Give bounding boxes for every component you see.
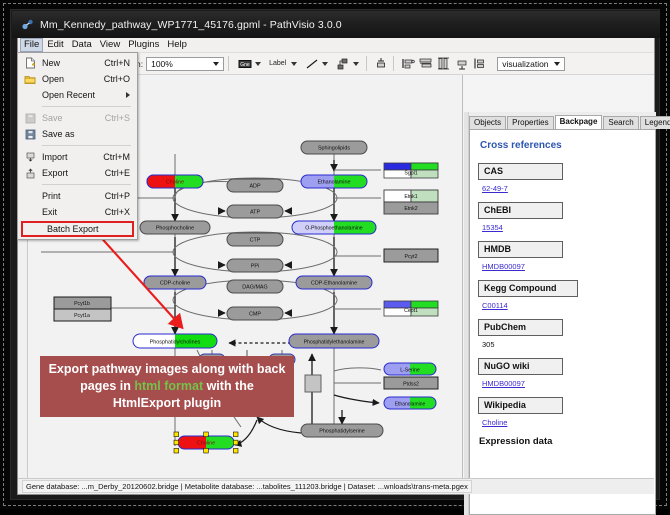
svg-text:Ptdss2: Ptdss2 <box>403 382 419 388</box>
menu-item-save-accel: Ctrl+S <box>105 113 130 123</box>
chevron-down-icon[interactable] <box>322 62 328 66</box>
menu-plugins[interactable]: Plugins <box>124 38 163 52</box>
menu-item-exit-label: Exit <box>42 207 105 217</box>
menu-item-new-label: New <box>42 58 104 68</box>
visualization-value: visualization <box>502 59 548 69</box>
pathway-gene-ptdss2: Ptdss2 <box>384 377 438 389</box>
xref-value-chebi: 15354 <box>482 223 647 232</box>
save-disk-icon <box>18 113 42 124</box>
toolbar-separator <box>228 56 229 71</box>
callout-line-3: HtmlExport plugin <box>113 396 221 410</box>
svg-text:Cept1: Cept1 <box>404 308 418 314</box>
toolbar-separator <box>393 56 394 71</box>
interaction-tool-icon[interactable] <box>334 55 351 72</box>
menu-item-export-accel: Ctrl+E <box>105 168 130 178</box>
callout-line-2b: with the <box>203 379 254 393</box>
pathvisio-application-window: Mm_Kennedy_pathway_WP1771_45176.gpml - P… <box>10 9 660 500</box>
xref-db-chebi: ChEBI <box>478 202 563 219</box>
gene-product-tool-icon[interactable]: Gne <box>236 55 253 72</box>
pathway-gene-pcyt1a: Pcyt1a <box>54 309 111 321</box>
toolbar-separator <box>366 56 367 71</box>
pathway-node-ethanolamine-top: Ethanolamine <box>301 175 367 188</box>
svg-text:Ethanolamine: Ethanolamine <box>395 401 426 407</box>
xref-link-nugo-wiki[interactable]: HMDB00097 <box>482 379 525 388</box>
svg-text:Gne: Gne <box>240 62 250 68</box>
svg-text:Choline: Choline <box>197 441 215 447</box>
pathway-gene-cept1: Cept1 <box>384 301 438 316</box>
xref-db-nugo-wiki: NuGO wiki <box>478 358 563 375</box>
chevron-down-icon[interactable] <box>291 62 297 66</box>
pathway-node-cdp-choline: CDP-choline <box>144 276 206 289</box>
zoom-combo[interactable]: 100% <box>146 57 224 71</box>
tab-backpage[interactable]: Backpage <box>555 115 603 129</box>
svg-text:Sphingolipids: Sphingolipids <box>318 146 350 152</box>
xref-db-pubchem: PubChem <box>478 319 563 336</box>
xref-db-hmdb: HMDB <box>478 241 563 258</box>
pathway-node-ethanolamine-right: Ethanolamine <box>384 397 436 409</box>
menu-item-export-label: Export <box>42 168 105 178</box>
pathway-node-o-phosphoethanolamine: O-Phosphoethanolamine <box>292 221 376 234</box>
menu-item-open-recent[interactable]: Open Recent <box>18 87 137 103</box>
pathway-node-phosphatidylcholines: Phosphatidylcholines <box>133 334 217 348</box>
window-title-bar: Mm_Kennedy_pathway_WP1771_45176.gpml - P… <box>12 11 660 38</box>
align-vertical-tool-icon[interactable] <box>453 55 470 72</box>
label-tool-label[interactable]: Label <box>266 58 289 69</box>
pathway-gene-pcyt1b: Pcyt1b <box>54 297 111 309</box>
menu-item-open-recent-label: Open Recent <box>42 90 126 100</box>
tab-search[interactable]: Search <box>603 116 638 129</box>
svg-text:CDP-Ethanolamine: CDP-Ethanolamine <box>311 281 357 287</box>
menu-separator <box>42 106 131 107</box>
svg-text:Phosphocholine: Phosphocholine <box>156 226 194 232</box>
svg-text:PPi: PPi <box>251 264 259 270</box>
callout-line-1: Export pathway images along with back <box>49 362 286 376</box>
align-horizontal-tool-icon[interactable] <box>417 55 434 72</box>
menu-help[interactable]: Help <box>163 38 191 52</box>
xref-link-hmdb[interactable]: HMDB00097 <box>482 262 525 271</box>
svg-text:Phosphatidylethanolamine: Phosphatidylethanolamine <box>304 339 365 345</box>
desktop-background: Mm_Kennedy_pathway_WP1771_45176.gpml - P… <box>0 0 670 509</box>
annotation-callout: Export pathway images along with back pa… <box>40 356 294 417</box>
pathway-node-cdp-ethanolamine: CDP-Ethanolamine <box>296 276 372 289</box>
pathway-node-anchor <box>305 375 321 392</box>
save-as-disk-icon <box>18 129 42 140</box>
pathway-node-choline-top: Choline <box>147 175 203 188</box>
callout-line-2a: pages in <box>80 379 134 393</box>
pathway-gene-pcyt2: Pcyt2 <box>384 249 438 262</box>
svg-text:Pcyt2: Pcyt2 <box>405 254 418 260</box>
pathway-node-l-serine: L-Serine <box>384 363 436 375</box>
svg-text:Ethanolamine: Ethanolamine <box>318 180 351 186</box>
menu-bar: File Edit Data View Plugins Help <box>18 38 654 53</box>
line-tool-split[interactable] <box>302 55 331 72</box>
geneproduct-tool-split[interactable]: Gne <box>235 55 264 72</box>
import-icon <box>18 152 42 163</box>
cross-references-heading: Cross references <box>480 140 647 151</box>
annotation-callout-text: Export pathway images along with back pa… <box>43 361 292 412</box>
tab-properties[interactable]: Properties <box>507 116 553 129</box>
pathway-node-phosphocholine: Phosphocholine <box>140 221 210 234</box>
menu-item-print-accel: Ctrl+P <box>105 191 130 201</box>
menu-item-new-accel: Ctrl+N <box>104 58 130 68</box>
svg-text:Pcyt1b: Pcyt1b <box>74 301 90 307</box>
svg-text:Sgpl1: Sgpl1 <box>404 171 417 177</box>
xref-db-kegg-compound: Kegg Compound <box>478 280 578 297</box>
align-left-tool-icon[interactable] <box>399 55 416 72</box>
interaction-tool-split[interactable] <box>333 55 362 72</box>
chevron-down-icon <box>213 62 219 66</box>
pathway-node-phosphatidylethanolamine: Phosphatidylethanolamine <box>289 334 379 348</box>
xref-db-cas: CAS <box>478 163 563 180</box>
pathway-node-phosphatidylserine: Phosphatidylserine <box>301 424 383 437</box>
tab-legend[interactable]: Legend <box>640 116 670 129</box>
menu-item-open-accel: Ctrl+O <box>104 74 130 84</box>
backpage-content: Cross references CAS 62-49-7 ChEBI 15354… <box>469 129 656 515</box>
status-bar: Gene database: ...m_Derby_20120602.bridg… <box>18 478 654 494</box>
xref-link-kegg-compound[interactable]: C00114 <box>482 301 508 310</box>
menu-item-save-as[interactable]: Save as <box>18 126 137 142</box>
svg-text:L-Serine: L-Serine <box>400 367 420 373</box>
label-tool-split[interactable]: Label <box>266 58 300 69</box>
pathway-node-adp: ADP <box>227 179 283 192</box>
callout-line-2-highlight: html format <box>134 379 203 393</box>
menu-item-batch-export-label: Batch Export <box>47 224 132 234</box>
menu-item-open-label: Open <box>42 74 104 84</box>
pathway-node-ppi: PPi <box>227 259 283 272</box>
pathway-node-sphingolipids: Sphingolipids <box>301 141 367 154</box>
chevron-down-icon <box>554 62 560 66</box>
chevron-right-icon <box>126 92 130 98</box>
xref-link-chebi[interactable]: 15354 <box>482 223 503 232</box>
open-folder-icon <box>18 74 42 85</box>
chevron-down-icon[interactable] <box>255 62 261 66</box>
svg-text:CMP: CMP <box>249 312 261 318</box>
zoom-value: 100% <box>151 59 173 69</box>
menu-item-print[interactable]: Print Ctrl+P <box>18 188 137 204</box>
xref-link-wikipedia[interactable]: Choline <box>482 418 507 427</box>
menu-item-import-label: Import <box>42 152 103 162</box>
tab-objects[interactable]: Objects <box>469 116 506 129</box>
line-tool-icon[interactable] <box>303 55 320 72</box>
svg-text:Etnk2: Etnk2 <box>404 206 417 212</box>
svg-text:Phosphatidylcholines: Phosphatidylcholines <box>150 339 201 345</box>
svg-text:ADP: ADP <box>249 184 260 190</box>
xref-value-nugo-wiki: HMDB00097 <box>482 379 647 388</box>
common-height-tool-icon[interactable] <box>471 55 488 72</box>
chevron-down-icon[interactable] <box>353 62 359 66</box>
menu-item-save-label: Save <box>42 113 105 123</box>
xref-value-hmdb: HMDB00097 <box>482 262 647 271</box>
menu-item-batch-export[interactable]: Batch Export <box>21 221 134 237</box>
side-panel: Objects Properties Backpage Search Legen… <box>464 112 656 515</box>
application-client-area: File Edit Data View Plugins Help Zoom: 1… <box>17 38 655 495</box>
common-width-tool-icon[interactable] <box>435 55 452 72</box>
menu-view[interactable]: View <box>96 38 124 52</box>
window-title: Mm_Kennedy_pathway_WP1771_45176.gpml - P… <box>40 19 342 31</box>
xref-value-kegg-compound: C00114 <box>482 301 647 310</box>
svg-text:Choline: Choline <box>166 180 184 186</box>
menu-item-print-label: Print <box>42 191 105 201</box>
svg-text:DAG/MAG: DAG/MAG <box>242 285 267 291</box>
svg-text:CDP-choline: CDP-choline <box>160 281 190 287</box>
menu-edit[interactable]: Edit <box>43 38 67 52</box>
menu-data[interactable]: Data <box>68 38 96 52</box>
status-bar-text: Gene database: ...m_Derby_20120602.bridg… <box>22 480 472 493</box>
xref-db-wikipedia: Wikipedia <box>478 397 563 414</box>
pathway-node-atp: ATP <box>227 205 283 218</box>
pathway-gene-sgpl1: Sgpl1 <box>384 163 438 178</box>
menu-item-save: Save Ctrl+S <box>18 110 137 126</box>
menu-item-exit[interactable]: Exit Ctrl+X <box>18 204 137 220</box>
pathway-node-cmp: CMP <box>227 307 283 320</box>
svg-text:CTP: CTP <box>250 238 261 244</box>
pathway-gene-etnk2: Etnk2 <box>384 202 438 214</box>
pathvisio-app-icon <box>21 18 34 31</box>
svg-text:O-Phosphoethanolamine: O-Phosphoethanolamine <box>305 226 363 232</box>
export-icon <box>18 168 42 179</box>
menu-item-new[interactable]: New Ctrl+N <box>18 55 137 71</box>
xref-value-wikipedia: Choline <box>482 418 647 427</box>
menu-item-import[interactable]: Import Ctrl+M <box>18 149 137 165</box>
expression-data-heading: Expression data <box>479 436 647 447</box>
file-menu-dropdown: New Ctrl+N Open Ctrl+O Open Recent <box>17 52 138 240</box>
pathway-gene-etnk1: Etnk1 <box>384 190 438 202</box>
menu-item-open[interactable]: Open Ctrl+O <box>18 71 137 87</box>
menu-item-save-as-label: Save as <box>42 129 130 139</box>
xref-value-cas: 62-49-7 <box>482 184 647 193</box>
xref-value-pubchem: 305 <box>482 340 647 349</box>
pathway-node-ctp: CTP <box>227 233 283 246</box>
svg-text:Pcyt1a: Pcyt1a <box>74 313 90 319</box>
new-document-icon <box>18 57 42 69</box>
visualization-combo[interactable]: visualization <box>497 57 565 71</box>
menu-separator <box>42 184 131 185</box>
pathway-node-dag-mag: DAG/MAG <box>227 280 283 293</box>
pathway-node-choline-bottom-selected: Choline <box>174 432 238 453</box>
side-panel-tabs: Objects Properties Backpage Search Legen… <box>469 114 656 129</box>
menu-item-export[interactable]: Export Ctrl+E <box>18 165 137 181</box>
svg-text:ATP: ATP <box>250 210 260 216</box>
svg-text:Phosphatidylserine: Phosphatidylserine <box>319 429 365 435</box>
xref-link-cas[interactable]: 62-49-7 <box>482 184 508 193</box>
menu-separator <box>42 145 131 146</box>
align-top-tool-icon[interactable] <box>372 55 389 72</box>
menu-file[interactable]: File <box>20 38 43 52</box>
menu-item-exit-accel: Ctrl+X <box>105 207 130 217</box>
svg-text:Etnk1: Etnk1 <box>404 194 417 200</box>
menu-item-import-accel: Ctrl+M <box>103 152 130 162</box>
